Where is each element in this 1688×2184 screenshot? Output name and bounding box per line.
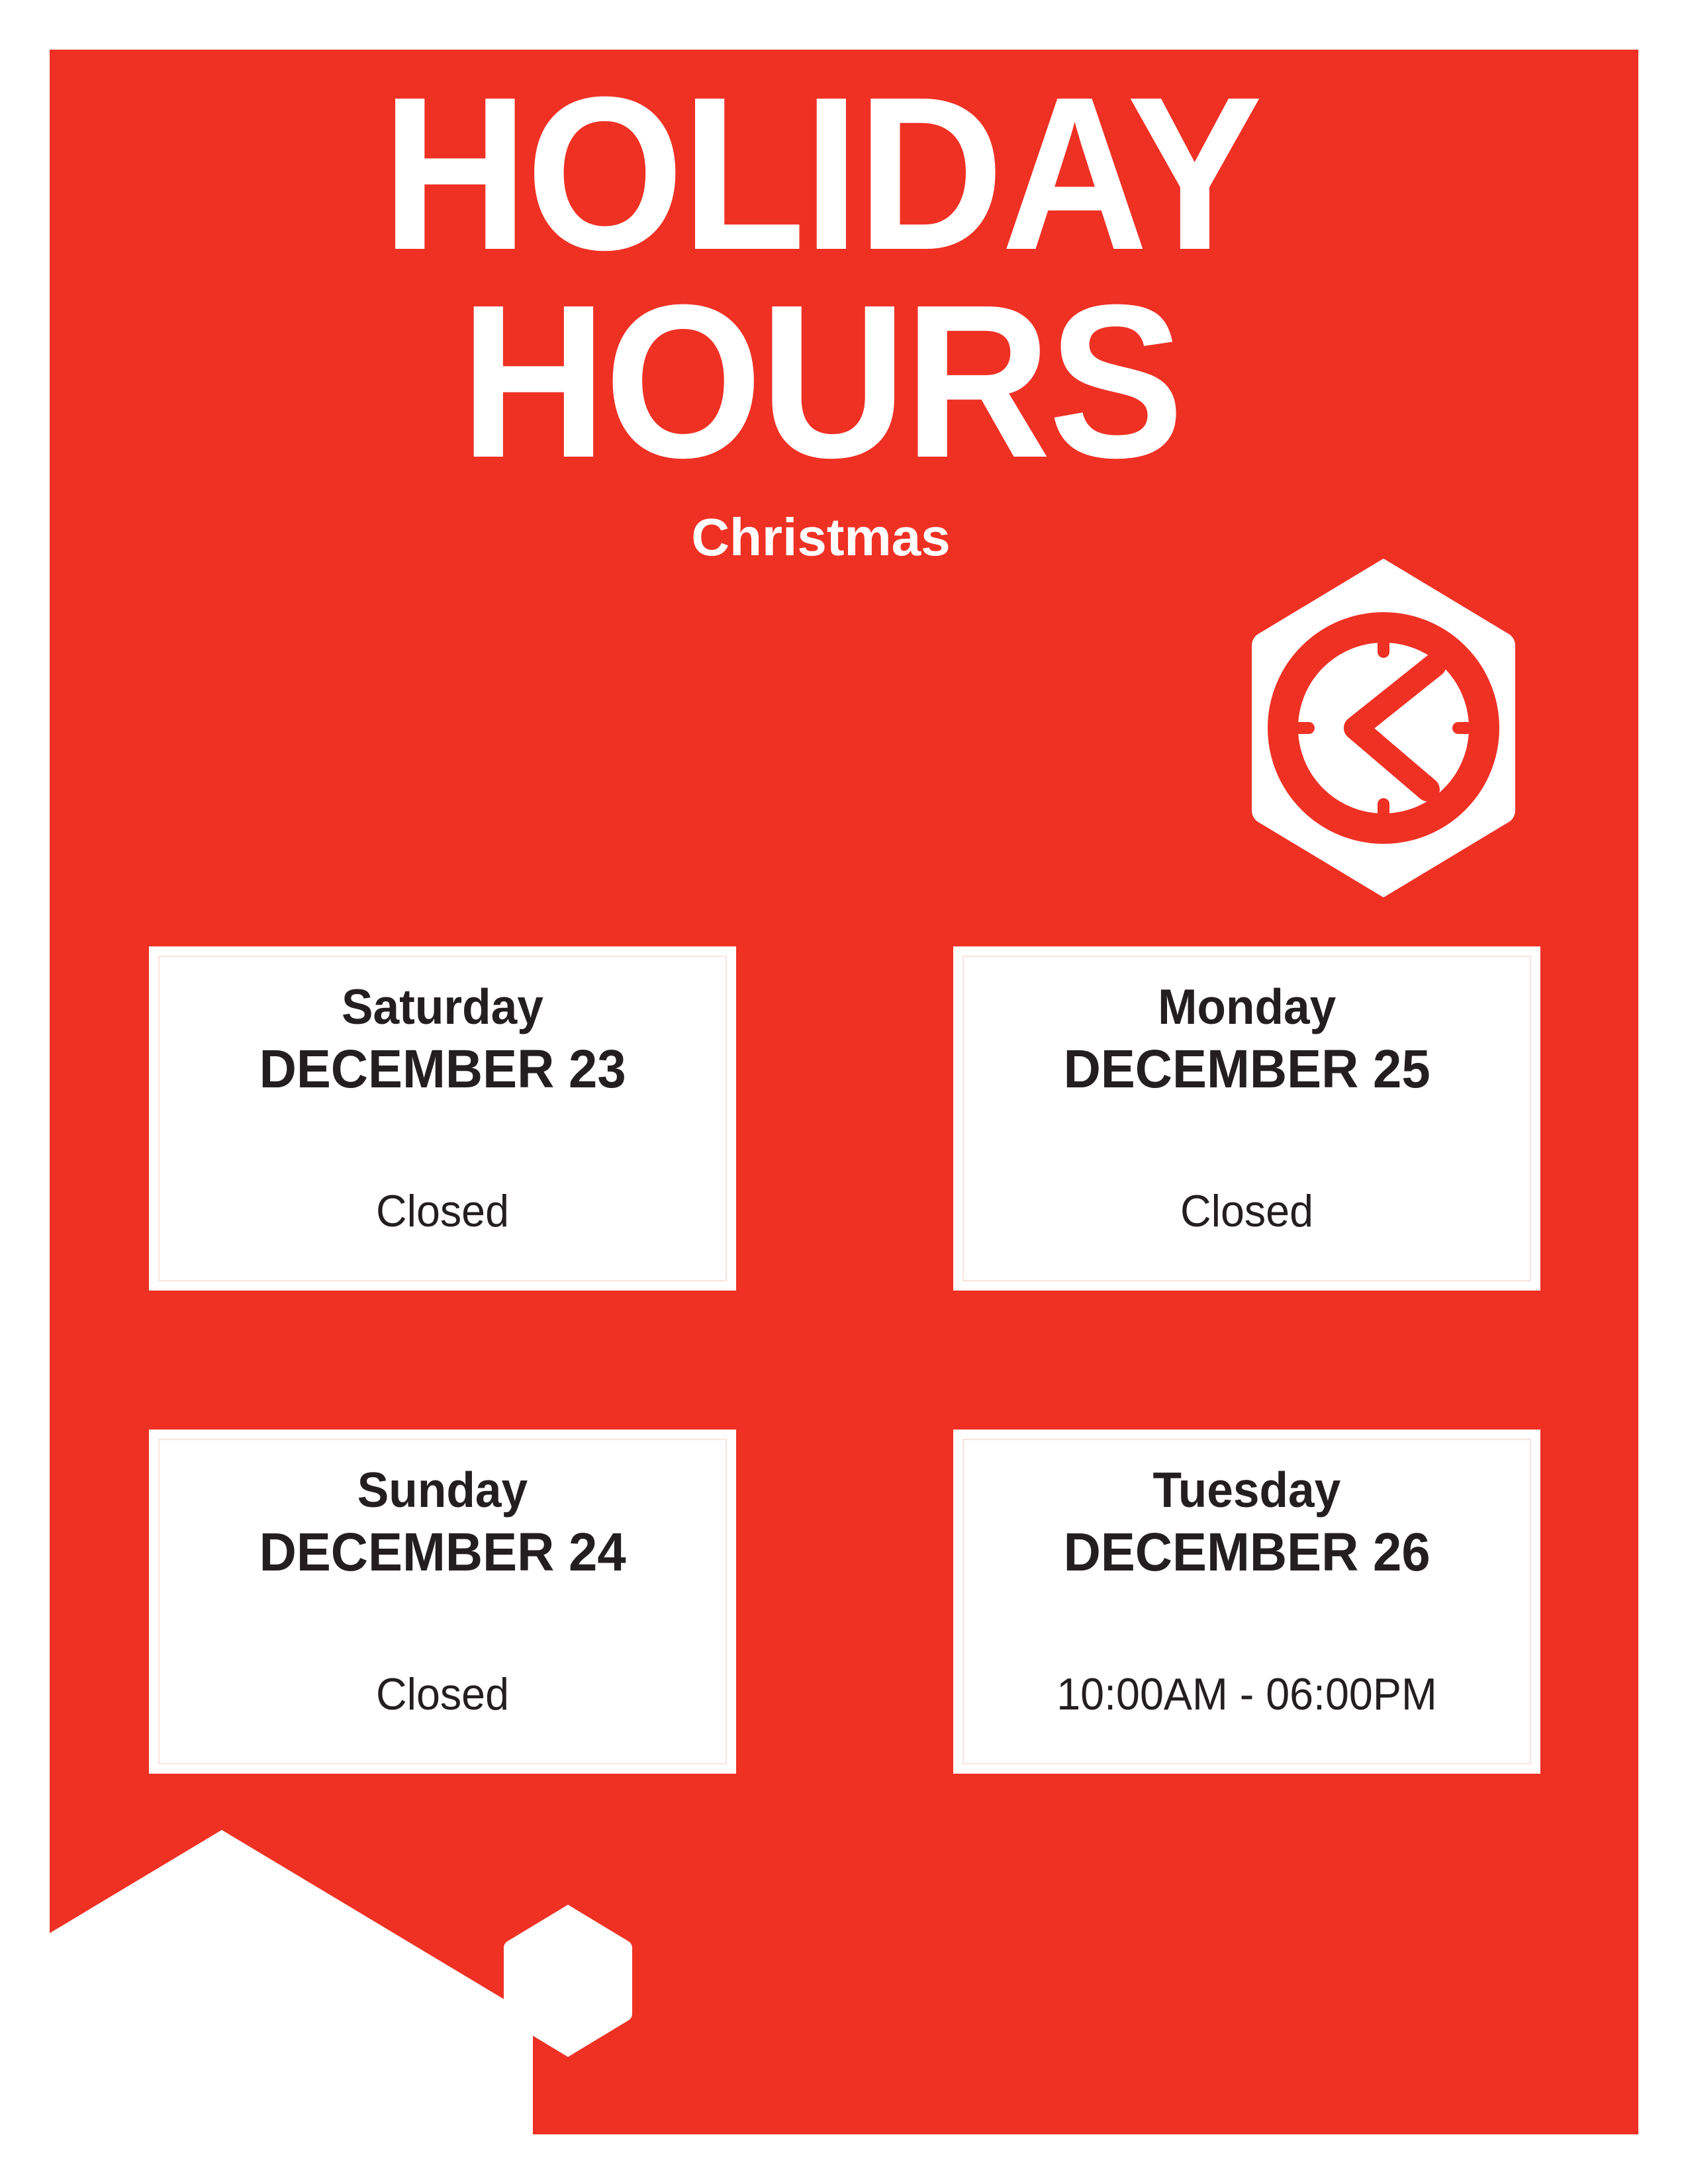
card-date: DECEMBER 25: [1063, 1037, 1430, 1102]
poster-title-line-2: HOURS: [104, 277, 1538, 485]
hexagon-decor-small-icon: [500, 1903, 636, 2059]
card-hours: Closed: [167, 1189, 718, 1234]
card-weekday: Sunday: [357, 1464, 528, 1516]
day-card[interactable]: Tuesday DECEMBER 26 10:00AM - 06:00PM: [953, 1430, 1540, 1774]
card-weekday: Tuesday: [1153, 1464, 1341, 1516]
day-card[interactable]: Sunday DECEMBER 24 Closed: [149, 1430, 736, 1774]
poster-header: HOLIDAY HOURS Christmas: [50, 69, 1592, 564]
poster-red-panel: HOLIDAY HOURS Christmas: [50, 50, 1638, 2134]
card-date: DECEMBER 26: [1063, 1520, 1430, 1585]
card-hours: Closed: [167, 1672, 718, 1717]
card-date: DECEMBER 24: [259, 1520, 626, 1585]
holiday-hours-poster: HOLIDAY HOURS Christmas: [0, 0, 1688, 2184]
hexagon-clock-icon: [1248, 555, 1519, 901]
hexagon-decor-large-icon: [50, 1823, 539, 2134]
card-weekday: Saturday: [342, 981, 543, 1033]
card-weekday: Monday: [1158, 981, 1336, 1033]
day-card[interactable]: Monday DECEMBER 25 Closed: [953, 946, 1540, 1291]
holiday-hours-card-grid: Saturday DECEMBER 23 Closed Monday DECEM…: [149, 946, 1509, 1774]
card-date: DECEMBER 23: [259, 1037, 626, 1102]
poster-title-line-1: HOLIDAY: [104, 69, 1538, 277]
card-hours: Closed: [972, 1189, 1522, 1234]
card-hours: 10:00AM - 06:00PM: [972, 1672, 1522, 1717]
day-card[interactable]: Saturday DECEMBER 23 Closed: [149, 946, 736, 1291]
